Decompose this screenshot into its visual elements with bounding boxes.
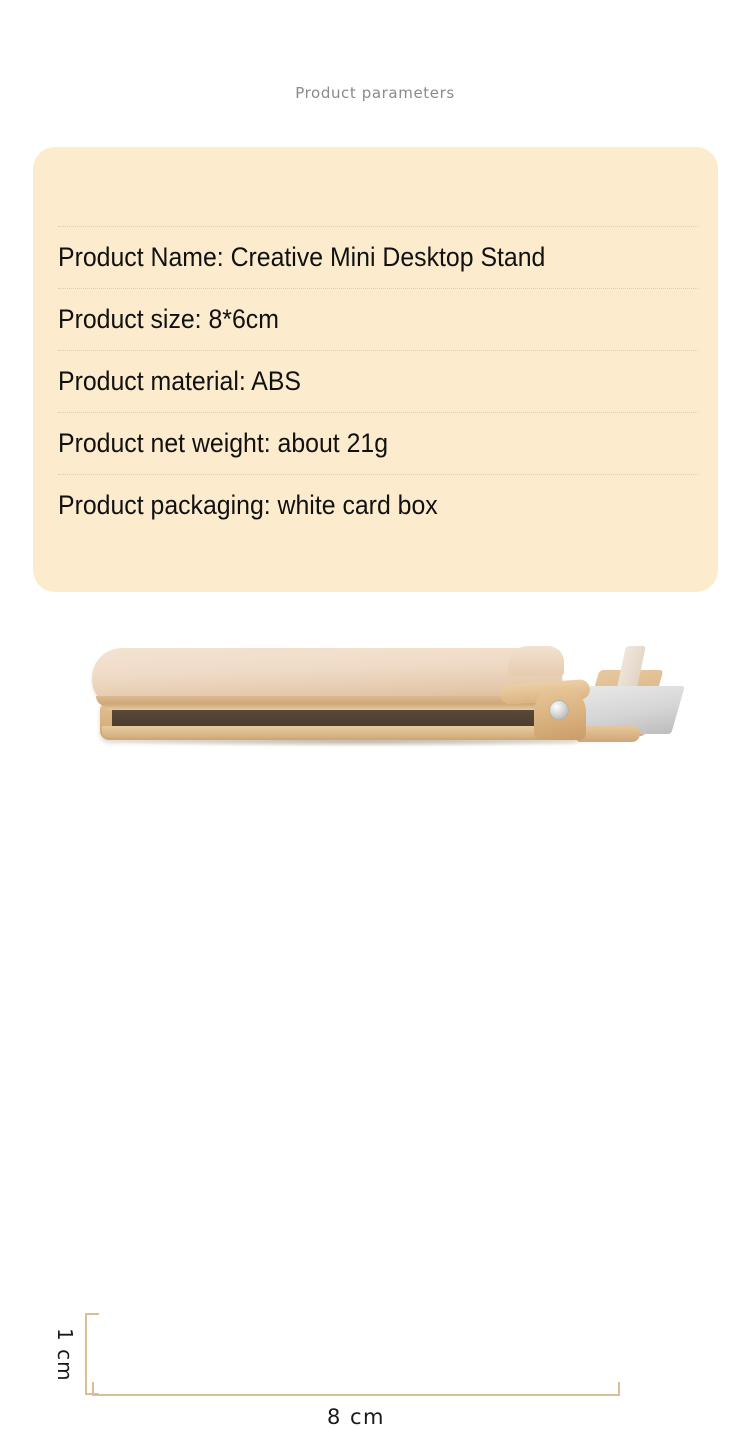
spec-panel: Product Name: Creative Mini Desktop Stan… [33,147,718,592]
spec-row: Product material: ABS [58,350,698,412]
product-photo-block: 1 cm 8 cm [0,620,750,850]
stand-plate-nub [508,646,564,676]
stand-base-inner [112,708,552,728]
spec-row-text: Product material: ABS [58,367,301,397]
spec-row-text: Product packaging: white card box [58,491,438,521]
spec-row: Product size: 8*6cm [58,288,698,350]
width-measure-label: 8 cm [92,1405,620,1429]
desktop-stand-illustration [90,630,630,770]
spec-row-text: Product net weight: about 21g [58,429,388,459]
spec-row-text: Product size: 8*6cm [58,305,279,335]
stand-plate-gap [104,704,544,710]
height-measure-label: 1 cm [52,1320,78,1390]
width-measure-bracket [92,1382,620,1396]
stand-hinge-pin [549,700,569,720]
spec-row-text: Product Name: Creative Mini Desktop Stan… [58,243,545,273]
section-heading: Product parameters [0,84,750,102]
product-photo [90,630,630,780]
spec-row: Product net weight: about 21g [58,412,698,474]
spec-row: Product Name: Creative Mini Desktop Stan… [58,226,698,288]
spec-row: Product packaging: white card box [58,474,698,536]
spec-list: Product Name: Creative Mini Desktop Stan… [58,226,698,536]
stand-base-lip [102,726,572,738]
